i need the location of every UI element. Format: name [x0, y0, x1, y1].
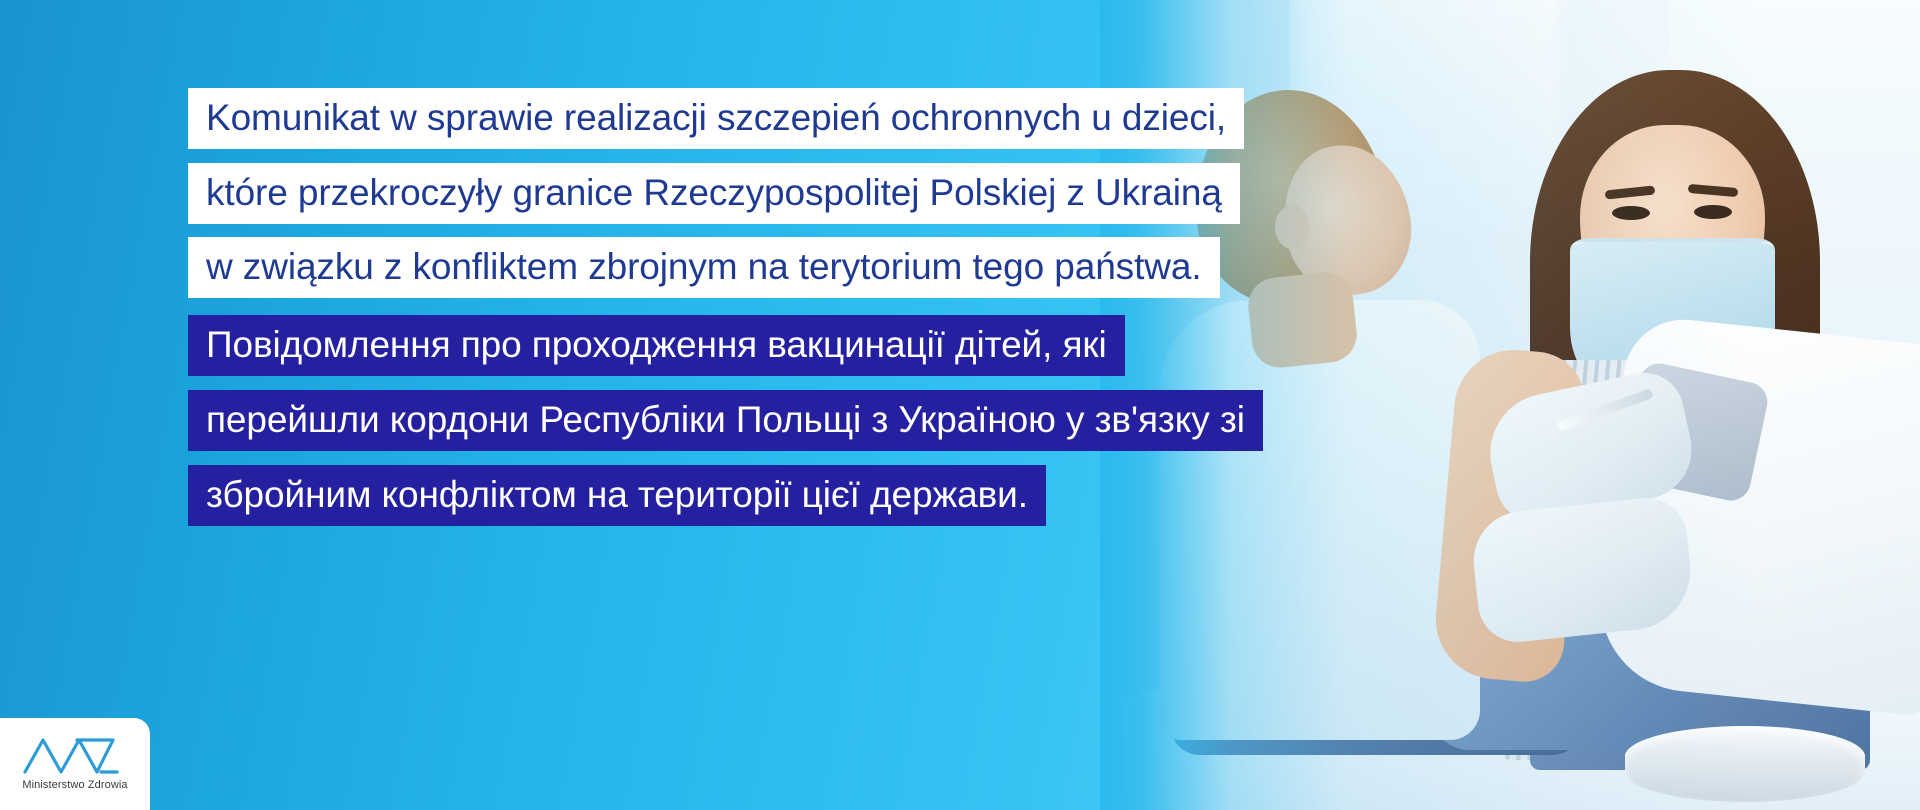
banner-root: Komunikat w sprawie realizacji szczepień… [0, 0, 1920, 810]
mz-logo-icon [21, 734, 129, 776]
polish-headline-line-2: które przekroczyły granice Rzeczypospoli… [188, 163, 1240, 224]
ukrainian-headline-line-1: Повідомлення про проходження вакцинації … [188, 315, 1125, 376]
ministry-of-health-logo: Ministerstwo Zdrowia [0, 718, 150, 810]
headline-text-stack: Komunikat w sprawie realizacji szczepień… [188, 88, 1263, 526]
polish-headline-line-1: Komunikat w sprawie realizacji szczepień… [188, 88, 1244, 149]
ministry-logo-caption: Ministerstwo Zdrowia [22, 779, 127, 791]
polish-headline-line-3: w związku z konfliktem zbrojnym na teryt… [188, 237, 1220, 298]
ukrainian-headline-line-3: збройним конфліктом на території цієї де… [188, 465, 1046, 526]
ukrainian-headline-line-2: перейшли кордони Республіки Польщі з Укр… [188, 390, 1263, 451]
